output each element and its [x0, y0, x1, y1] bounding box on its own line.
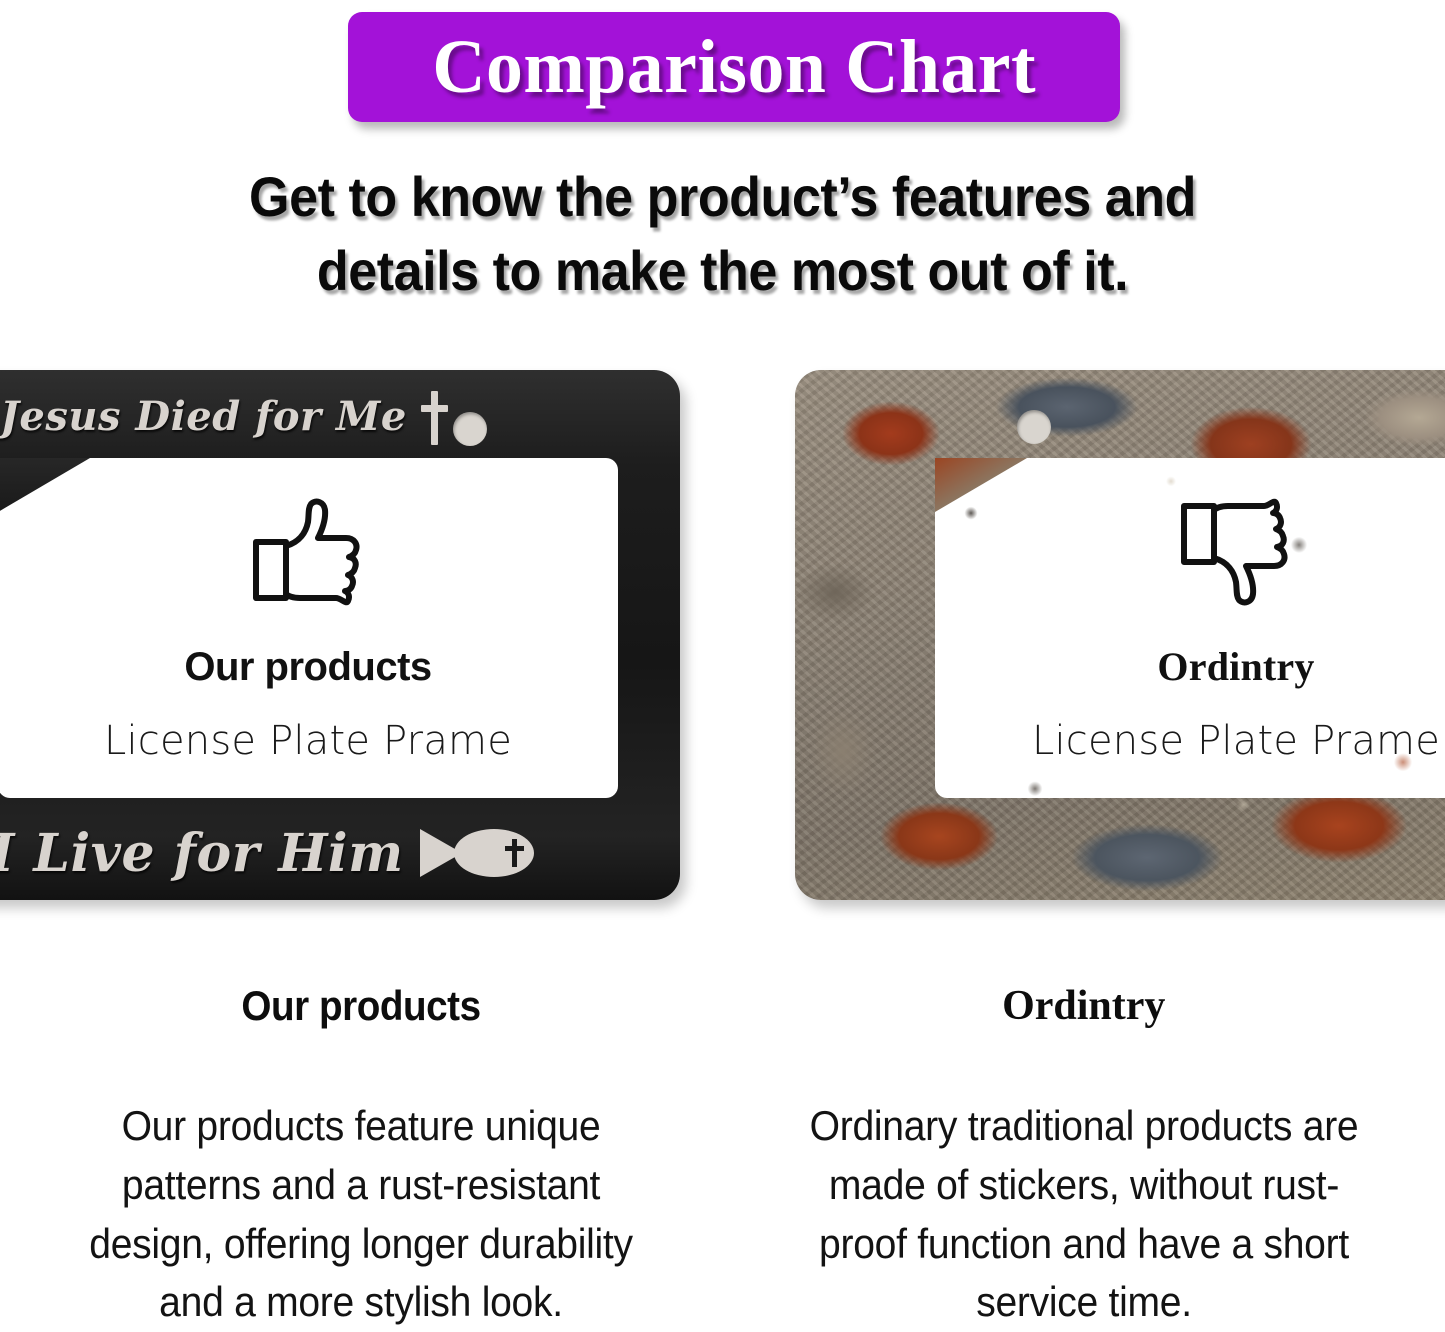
- left-window-subheading: License Plate Prame: [104, 721, 512, 761]
- ordinary-license-plate-frame: Ordintry License Plate Prame: [795, 370, 1445, 900]
- right-window-heading: Ordintry: [1157, 647, 1314, 687]
- ichthys-fish-with-cross-icon: [418, 825, 536, 881]
- mounting-hole: [453, 412, 487, 446]
- banner-background: Comparison Chart: [348, 12, 1120, 122]
- left-window-content: Our products License Plate Prame: [0, 458, 618, 798]
- rail-bottom-label: I Live for Him: [0, 823, 404, 884]
- comparison-chart-banner: Comparison Chart: [348, 12, 1120, 122]
- black-frame-body: Jesus Died for Me Our products License P…: [0, 370, 680, 900]
- page-subtitle: Get to know the product’s features and d…: [51, 160, 1395, 308]
- right-window-content: Ordintry License Plate Prame: [935, 458, 1445, 798]
- rail-top-label: Jesus Died for Me: [0, 393, 407, 440]
- ordinary-description-column: Ordintry Ordinary traditional products a…: [723, 985, 1445, 1332]
- our-products-description-column: Our products Our products feature unique…: [0, 985, 723, 1332]
- frame-bottom-rail-text: I Live for Him: [0, 818, 536, 888]
- cross-icon: [421, 391, 447, 445]
- rusty-frame-body: Ordintry License Plate Prame: [795, 370, 1445, 900]
- product-comparison-images: Jesus Died for Me Our products License P…: [0, 370, 1445, 930]
- our-product-license-plate-frame: Jesus Died for Me Our products License P…: [0, 370, 680, 900]
- our-products-column-title: Our products: [242, 985, 481, 1027]
- plate-window-right: Ordintry License Plate Prame: [935, 458, 1445, 798]
- our-products-column-body: Our products feature unique patterns and…: [64, 1097, 659, 1332]
- subtitle-line-2: details to make the most out of it.: [51, 234, 1395, 308]
- frame-top-rail-text: Jesus Died for Me: [0, 388, 447, 444]
- left-window-heading: Our products: [184, 647, 431, 687]
- thumbs-down-icon: [1176, 496, 1296, 613]
- ordinary-column-title: Ordintry: [1002, 985, 1165, 1027]
- comparison-description-columns: Our products Our products feature unique…: [0, 985, 1445, 1332]
- mounting-hole: [1017, 410, 1051, 444]
- plate-window-left: Our products License Plate Prame: [0, 458, 618, 798]
- subtitle-line-1: Get to know the product’s features and: [249, 165, 1196, 228]
- right-window-subheading: License Plate Prame: [1032, 721, 1440, 761]
- page-title: Comparison Chart: [432, 29, 1036, 105]
- ordinary-column-body: Ordinary traditional products are made o…: [786, 1097, 1381, 1332]
- thumbs-up-icon: [248, 496, 368, 613]
